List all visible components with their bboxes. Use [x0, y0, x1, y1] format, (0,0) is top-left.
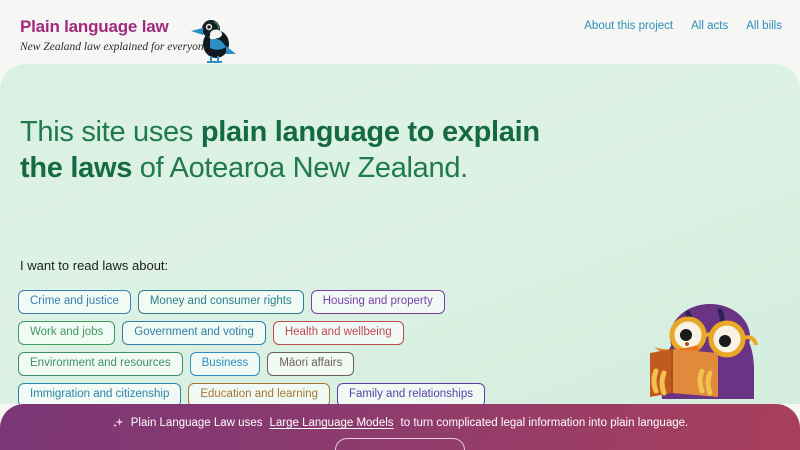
- topic-tag[interactable]: Money and consumer rights: [138, 290, 304, 314]
- nav-link-about-this-project[interactable]: About this project: [584, 20, 673, 32]
- large-language-models-link[interactable]: Large Language Models: [269, 417, 393, 429]
- llm-banner-text: Plain Language Law uses Large Language M…: [0, 417, 800, 429]
- brand-tagline: New Zealand law explained for everyone: [20, 40, 209, 54]
- topic-tag[interactable]: Housing and property: [311, 290, 445, 314]
- kiwi-reading-book-icon: [626, 287, 776, 404]
- main-nav: About this project All acts All bills: [584, 20, 782, 32]
- tui-bird-icon: [190, 14, 238, 69]
- topic-tag[interactable]: Māori affairs: [267, 352, 354, 376]
- topics-prompt-label: I want to read laws about:: [20, 258, 168, 273]
- nav-link-all-bills[interactable]: All bills: [746, 20, 782, 32]
- topic-tag[interactable]: Health and wellbeing: [273, 321, 404, 345]
- hero-panel: This site uses plain language to explain…: [0, 64, 800, 404]
- page-title: This site uses plain language to explain…: [20, 114, 560, 186]
- topic-tag-list: Crime and justiceMoney and consumer righ…: [18, 290, 518, 404]
- brand-title: Plain language law: [20, 17, 209, 37]
- heading-text-1: This site uses: [20, 116, 201, 148]
- llm-text-before: Plain Language Law uses: [131, 417, 263, 429]
- topic-tag[interactable]: Immigration and citizenship: [18, 383, 181, 404]
- topic-tag[interactable]: Environment and resources: [18, 352, 183, 376]
- page-root: Plain language law New Zealand law expla…: [0, 0, 800, 450]
- topic-tag[interactable]: Government and voting: [122, 321, 266, 345]
- llm-text-after: to turn complicated legal information in…: [401, 417, 689, 429]
- topic-tag[interactable]: Business: [190, 352, 261, 376]
- topic-tag[interactable]: Family and relationships: [337, 383, 485, 404]
- llm-banner-cta-button[interactable]: [335, 438, 465, 450]
- topic-tag[interactable]: Work and jobs: [18, 321, 115, 345]
- topic-tag[interactable]: Education and learning: [188, 383, 330, 404]
- site-header: Plain language law New Zealand law expla…: [0, 0, 800, 64]
- nav-link-all-acts[interactable]: All acts: [691, 20, 728, 32]
- brand[interactable]: Plain language law New Zealand law expla…: [20, 17, 209, 54]
- topic-tag[interactable]: Crime and justice: [18, 290, 131, 314]
- heading-text-2: of Aotearoa New Zealand.: [132, 152, 468, 184]
- sparkle-icon: [112, 417, 124, 429]
